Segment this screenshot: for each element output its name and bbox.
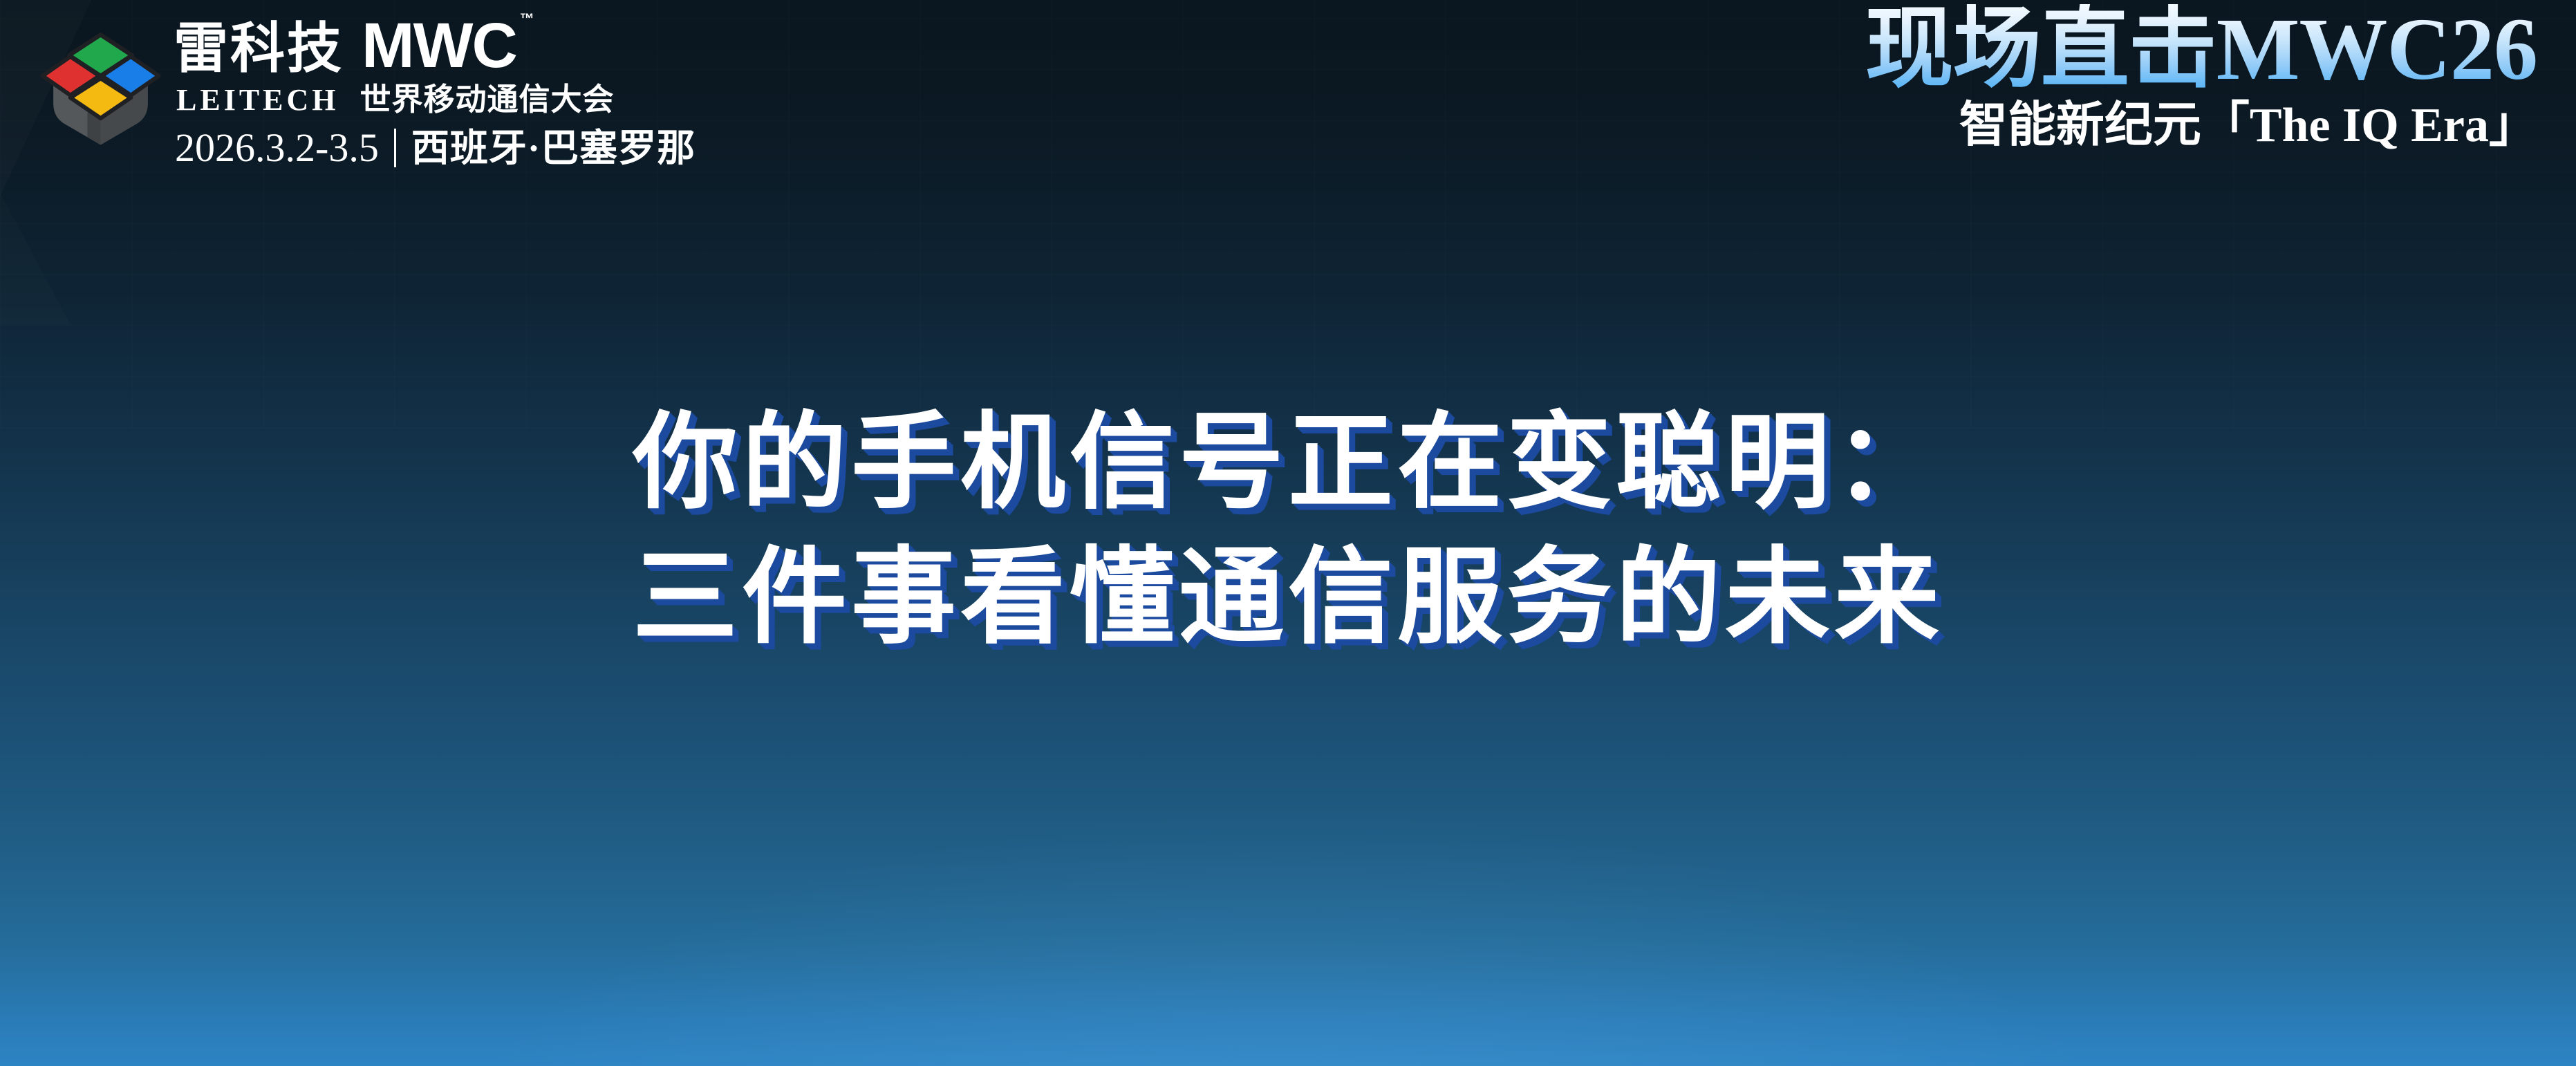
- brand-lockup: 雷科技 MWC ™ LEITECH 世界移动通信大会 2026.3.2-3.5 …: [40, 11, 648, 168]
- brand-secondary-row: LEITECH 世界移动通信大会: [176, 84, 696, 115]
- event-date: 2026.3.2-3.5: [175, 128, 379, 168]
- event-date-location: 2026.3.2-3.5 西班牙·巴塞罗那: [175, 128, 696, 168]
- leitech-latin-name: LEITECH: [176, 85, 339, 115]
- headline-title: 现场直击MWC26: [1865, 4, 2537, 95]
- main-title-block: 你的手机信号正在变聪明： 三件事看懂通信服务的未来: [0, 395, 2576, 664]
- brand-text: 雷科技 MWC ™ LEITECH 世界移动通信大会 2026.3.2-3.5 …: [174, 11, 696, 168]
- main-title-line-1: 你的手机信号正在变聪明：: [0, 395, 2576, 530]
- headline-block: 现场直击MWC26 智能新纪元「The IQ Era」: [1865, 4, 2537, 152]
- mwc-wordmark: MWC: [362, 10, 516, 81]
- mwc-wordmark-wrap: MWC ™: [362, 14, 516, 77]
- brand-primary-row: 雷科技 MWC ™: [174, 14, 696, 77]
- vertical-divider: [394, 129, 396, 167]
- leitech-cn-name: 雷科技: [174, 22, 344, 77]
- headline-subtitle: 智能新纪元「The IQ Era」: [1865, 99, 2537, 152]
- mwc-cn-name: 世界移动通信大会: [360, 84, 615, 115]
- event-location: 西班牙·巴塞罗那: [411, 129, 696, 167]
- brand-row: 雷科技 MWC ™ LEITECH 世界移动通信大会 2026.3.2-3.5 …: [40, 11, 648, 168]
- trademark-icon: ™: [520, 11, 534, 28]
- main-title-line-2: 三件事看懂通信服务的未来: [0, 530, 2576, 665]
- mwc26-banner: 雷科技 MWC ™ LEITECH 世界移动通信大会 2026.3.2-3.5 …: [0, 0, 2576, 1066]
- leitech-cube-icon: [40, 26, 161, 147]
